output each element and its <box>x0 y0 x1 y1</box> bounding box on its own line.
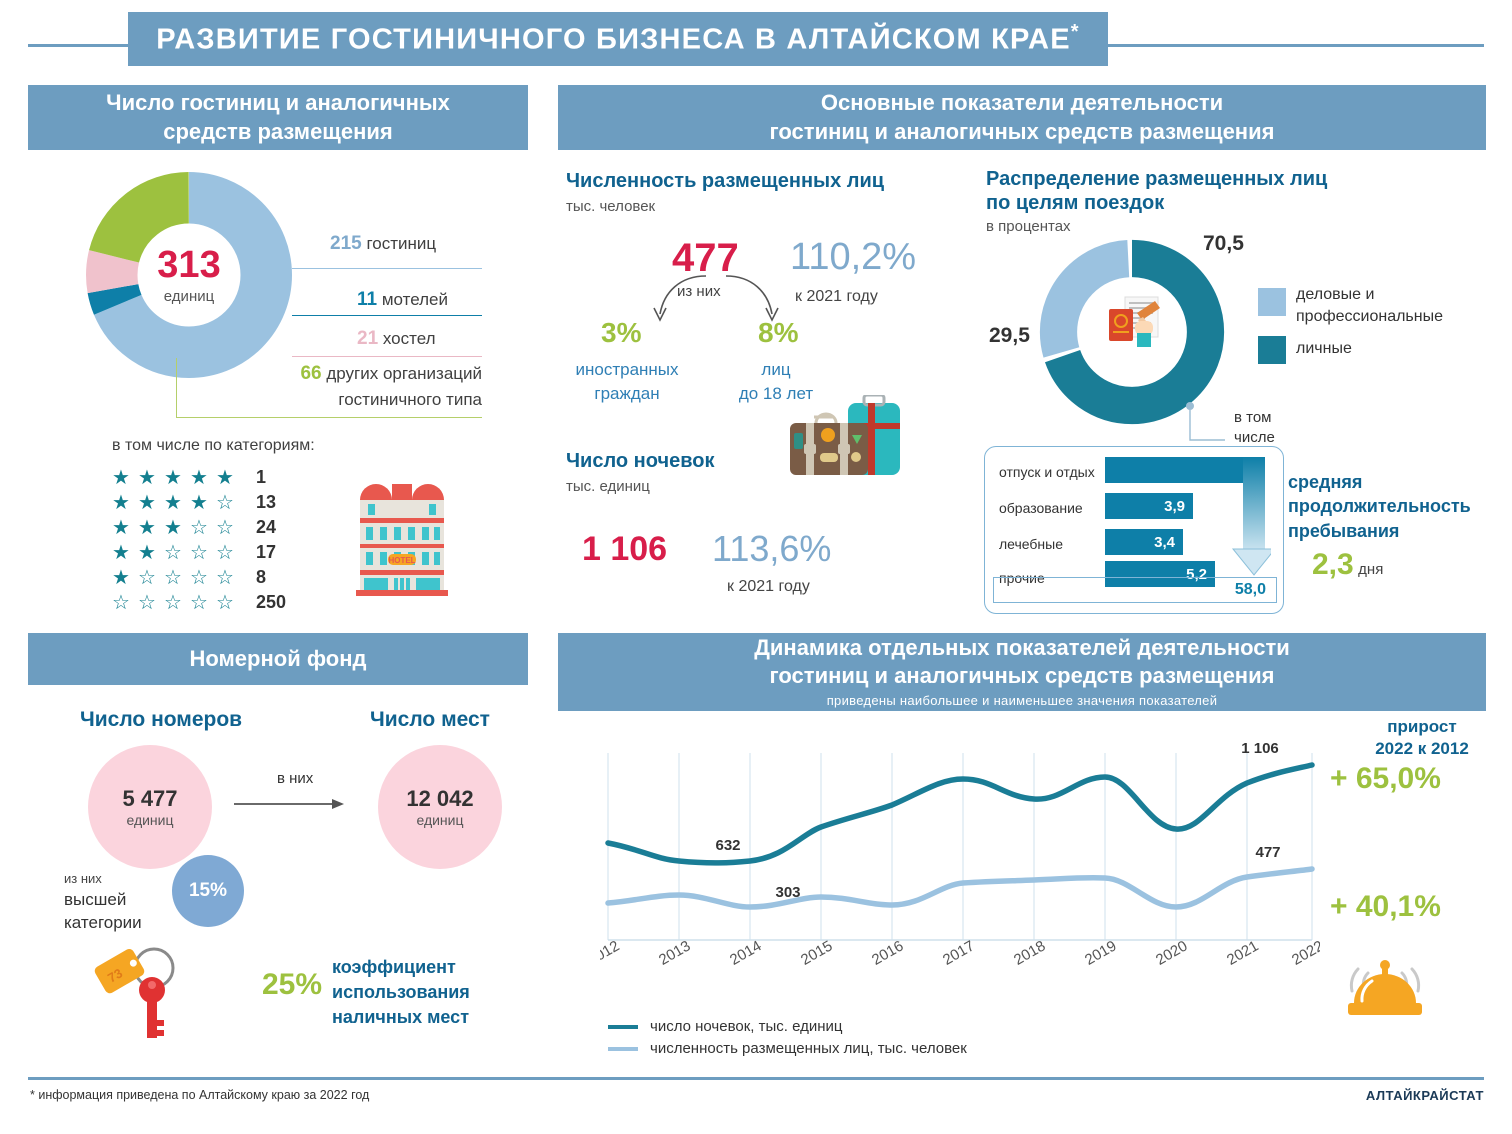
panel-header-rooms-fund: Номерной фонд <box>28 633 528 685</box>
panel-header-line2: гостиниц и аналогичных средств размещени… <box>770 118 1275 146</box>
nights-ratio: 113,6% <box>712 528 831 570</box>
legend-item-other: 66 других организаций гостиничного типа <box>250 360 482 412</box>
legend-text-persons: численность размещенных лиц, тыс. челове… <box>650 1040 967 1057</box>
star-category-count: 17 <box>256 542 276 563</box>
average-stay-value-group: 2,3 дня <box>1312 548 1383 582</box>
breakdown-total-bar: 58,0 <box>993 577 1277 603</box>
svg-text:1 106: 1 106 <box>1241 740 1279 757</box>
star-empty-icon: ☆ <box>138 593 164 613</box>
legend-value-other: 66 <box>300 363 321 384</box>
panel-header-dynamics: Динамика отдельных показателей деятельно… <box>558 633 1486 711</box>
star-empty-icon: ☆ <box>190 568 216 588</box>
legend-value-hotels: 215 <box>330 233 362 254</box>
nights-section-subtitle: тыс. единиц <box>566 478 650 495</box>
star-empty-icon: ☆ <box>190 518 216 538</box>
legend-item-motels: 11 мотелей <box>357 289 448 311</box>
panel-header-line1: Динамика отдельных показателей деятельно… <box>754 634 1290 662</box>
occupancy-pct: 25% <box>262 968 322 1002</box>
svg-text:2013: 2013 <box>656 937 693 965</box>
star-categories-table: ★★★★★1 ★★★★☆13 ★★★☆☆24 ★★☆☆☆17 ★☆☆☆☆8 ☆☆… <box>112 465 286 615</box>
star-empty-icon: ☆ <box>112 593 138 613</box>
hotels-donut-center: 313 единиц <box>86 172 292 378</box>
star-empty-icon: ☆ <box>216 568 242 588</box>
suitcases-icon <box>780 395 910 500</box>
svg-text:2019: 2019 <box>1082 937 1119 965</box>
svg-text:303: 303 <box>775 884 800 901</box>
star-filled-icon: ★ <box>190 468 216 488</box>
star-filled-icon: ★ <box>164 493 190 513</box>
star-filled-icon: ★ <box>112 568 138 588</box>
legend-item-hostels: 21 хостел <box>357 328 436 350</box>
panel-header-hotels-count: Число гостиниц и аналогичных средств раз… <box>28 85 528 150</box>
purposes-breakdown-box: отпуск и отдых образование лечебные проч… <box>984 446 1284 614</box>
star-empty-icon: ☆ <box>190 543 216 563</box>
legend-line-persons-icon <box>608 1047 638 1051</box>
svg-text:HOTEL: HOTEL <box>388 556 415 565</box>
title-asterisk: * <box>1071 21 1080 43</box>
star-category-count: 1 <box>256 467 266 488</box>
svg-text:2012: 2012 <box>600 937 622 965</box>
rooms-count-value: 5 477 <box>122 786 177 812</box>
panel-header-line1: Основные показатели деятельности <box>821 89 1223 117</box>
high-category-label: из них высшей категории <box>64 868 176 934</box>
page-title: РАЗВИТИЕ ГОСТИНИЧНОГО БИЗНЕСА В АЛТАЙСКО… <box>128 12 1108 66</box>
beds-count-bubble: 12 042 единиц <box>378 745 502 869</box>
categories-label: в том числе по категориям: <box>112 437 315 455</box>
star-empty-icon: ☆ <box>216 493 242 513</box>
purposes-subtitle: в процентах <box>986 218 1071 235</box>
legend-label-business: деловые и профессиональные <box>1296 284 1443 329</box>
rooms-count-bubble: 5 477 единиц <box>88 745 212 869</box>
legend-label-hotels: гостиниц <box>366 234 436 253</box>
legend-rule-motels <box>292 315 482 316</box>
star-filled-icon: ★ <box>138 518 164 538</box>
star-filled-icon: ★ <box>164 468 190 488</box>
legend-value-motels: 11 <box>357 289 377 310</box>
svg-text:2015: 2015 <box>798 937 835 965</box>
star-empty-icon: ☆ <box>190 593 216 613</box>
passport-document-icon <box>1105 295 1175 361</box>
star-category-row: ★★☆☆☆17 <box>112 540 286 565</box>
persons-foreign-label: иностранных граждан <box>568 358 686 406</box>
star-category-count: 250 <box>256 592 286 613</box>
purposes-title-line1: Распределение размещенных лиц <box>986 168 1327 191</box>
star-category-row: ★☆☆☆☆8 <box>112 565 286 590</box>
title-rule-left <box>28 44 128 47</box>
star-filled-icon: ★ <box>164 518 190 538</box>
star-filled-icon: ★ <box>112 493 138 513</box>
legend-label-hostels: хостел <box>383 329 436 348</box>
beds-count-unit: единиц <box>416 812 463 828</box>
page-title-text: РАЗВИТИЕ ГОСТИНИЧНОГО БИЗНЕСА В АЛТАЙСКО… <box>156 24 1070 56</box>
star-empty-icon: ☆ <box>216 518 242 538</box>
purposes-title-line2: по целям поездок <box>986 192 1164 215</box>
breakdown-bar-education: 3,9 <box>1105 493 1193 519</box>
legend-value-hostels: 21 <box>357 328 378 349</box>
star-category-row: ★★★★★1 <box>112 465 286 490</box>
hotel-building-icon: HOTEL <box>352 472 452 602</box>
star-filled-icon: ★ <box>190 493 216 513</box>
high-category-pct: 15% <box>189 880 227 902</box>
panel-header-line1: Номерной фонд <box>190 645 367 673</box>
panel-header-line2: средств размещения <box>163 118 393 146</box>
legend-rule-hostels <box>292 356 482 357</box>
occupancy-label: коэффициент использования наличных мест <box>332 955 470 1029</box>
star-empty-icon: ☆ <box>164 568 190 588</box>
legend-label-motels: мотелей <box>382 290 448 309</box>
legend-rule-hotels <box>292 268 482 269</box>
nights-ratio-caption: к 2021 году <box>727 578 810 596</box>
average-stay-unit: дня <box>1358 561 1383 578</box>
legend-label-personal: личные <box>1296 340 1352 358</box>
average-stay-value: 2,3 <box>1312 548 1354 581</box>
panel-header-line2: гостиниц и аналогичных средств размещени… <box>770 662 1275 690</box>
dynamics-line-chart: 632 1 106 303 477 2012 2013 2014 2015 20… <box>600 735 1320 965</box>
svg-text:2018: 2018 <box>1011 937 1048 965</box>
breakdown-bar-medical: 3,4 <box>1105 529 1183 555</box>
title-rule-right <box>1108 44 1484 47</box>
svg-text:2020: 2020 <box>1153 937 1190 965</box>
star-category-row: ☆☆☆☆☆250 <box>112 590 286 615</box>
legend-swatch-business <box>1258 288 1286 316</box>
star-filled-icon: ★ <box>138 493 164 513</box>
star-filled-icon: ★ <box>138 468 164 488</box>
star-empty-icon: ☆ <box>216 543 242 563</box>
rooms-count-unit: единиц <box>126 812 173 828</box>
star-category-count: 24 <box>256 517 276 538</box>
star-filled-icon: ★ <box>138 543 164 563</box>
star-filled-icon: ★ <box>112 518 138 538</box>
persons-minors-pct: 8% <box>758 317 798 349</box>
nights-section-title: Число ночевок <box>566 450 714 473</box>
beds-count-value: 12 042 <box>406 786 473 812</box>
legend-rule-other <box>176 417 482 418</box>
star-empty-icon: ☆ <box>216 593 242 613</box>
svg-text:2014: 2014 <box>727 937 764 965</box>
hotels-total-value: 313 <box>157 246 220 284</box>
nights-value: 1 106 <box>582 530 667 569</box>
legend-text-nights: число ночевок, тыс. единиц <box>650 1018 843 1035</box>
legend-rule-other-vertical <box>176 358 177 418</box>
beds-count-title: Число мест <box>370 708 490 732</box>
chart-legend-nights: число ночевок, тыс. единиц <box>608 1018 843 1035</box>
down-arrow-icon <box>1181 457 1271 579</box>
breakdown-label-vacation: отпуск и отдых <box>999 459 1095 485</box>
high-category-bubble: 15% <box>172 855 244 927</box>
purposes-personal-value: 70,5 <box>1203 232 1244 256</box>
star-filled-icon: ★ <box>112 468 138 488</box>
average-stay-label: средняя продолжительность пребывания <box>1288 470 1471 543</box>
rooms-count-title: Число номеров <box>80 708 242 732</box>
footer-rule <box>28 1077 1484 1080</box>
rooms-to-beds-arrow-icon <box>232 794 354 814</box>
breakdown-label-education: образование <box>999 495 1083 521</box>
star-filled-icon: ★ <box>216 468 242 488</box>
legend-label-other: других организаций <box>326 364 482 383</box>
legend-label-other-2: гостиничного типа <box>338 390 482 409</box>
svg-text:477: 477 <box>1255 844 1280 861</box>
key-tag-icon: 73 <box>90 940 210 1040</box>
growth-nights-value: + 65,0% <box>1330 762 1441 796</box>
growth-caption: прирост 2022 к 2012 <box>1352 716 1492 760</box>
service-bell-icon <box>1340 955 1430 1025</box>
star-category-row: ★★★★☆13 <box>112 490 286 515</box>
panel-header-main-indicators: Основные показатели деятельности гостини… <box>558 85 1486 150</box>
footer-note: * информация приведена по Алтайскому кра… <box>30 1088 369 1102</box>
svg-text:632: 632 <box>715 837 740 854</box>
persons-section-title: Численность размещенных лиц <box>566 170 884 193</box>
breakdown-label-medical: лечебные <box>999 531 1063 557</box>
star-category-count: 13 <box>256 492 276 513</box>
including-label: в том числе <box>1234 408 1275 447</box>
star-category-row: ★★★☆☆24 <box>112 515 286 540</box>
svg-text:2017: 2017 <box>940 937 977 965</box>
persons-foreign-pct: 3% <box>601 317 641 349</box>
growth-persons-value: + 40,1% <box>1330 890 1441 924</box>
hotels-total-unit: единиц <box>164 288 214 305</box>
legend-swatch-personal <box>1258 336 1286 364</box>
svg-text:2016: 2016 <box>869 937 906 965</box>
star-category-count: 8 <box>256 567 266 588</box>
star-empty-icon: ☆ <box>164 593 190 613</box>
svg-text:2021: 2021 <box>1224 937 1261 965</box>
panel-header-subnote: приведены наибольшее и наименьшее значен… <box>827 693 1218 710</box>
svg-text:2022: 2022 <box>1289 937 1320 965</box>
star-filled-icon: ★ <box>112 543 138 563</box>
footer-brand: АЛТАЙКРАЙСТАТ <box>1366 1088 1484 1103</box>
legend-line-nights-icon <box>608 1025 638 1029</box>
panel-header-line1: Число гостиниц и аналогичных <box>106 89 450 117</box>
star-empty-icon: ☆ <box>164 543 190 563</box>
star-empty-icon: ☆ <box>138 568 164 588</box>
chart-legend-persons: численность размещенных лиц, тыс. челове… <box>608 1040 967 1057</box>
purposes-business-value: 29,5 <box>989 324 1030 348</box>
persons-section-subtitle: тыс. человек <box>566 198 655 215</box>
rooms-arrow-label: в них <box>277 770 313 787</box>
legend-item-hotels: 215 гостиниц <box>330 233 436 255</box>
